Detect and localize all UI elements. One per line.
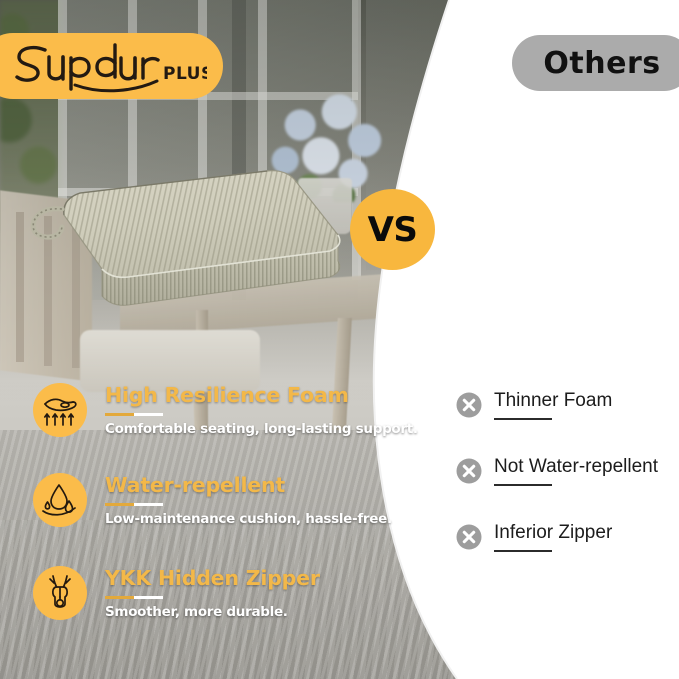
pro-underline (105, 413, 163, 416)
supdur-plus-logo: PLUS (11, 39, 207, 93)
pro-subtitle: Comfortable seating, long-lasting suppor… (105, 422, 418, 437)
vs-label: VS (368, 210, 418, 250)
product-photo-supdur-cushion (22, 165, 352, 320)
con-underline (494, 418, 552, 420)
circle-x-icon (456, 458, 482, 484)
pro-row-water-repellent: Water-repellent Low-maintenance cushion,… (33, 473, 392, 527)
pro-title: High Resilience Foam (105, 385, 418, 406)
con-title: Inferior Zipper (494, 523, 612, 542)
con-title: Thinner Foam (494, 391, 612, 410)
con-row-thinner-foam: Thinner Foam (456, 391, 612, 420)
pro-title: YKK Hidden Zipper (105, 568, 320, 589)
pro-text-block: YKK Hidden Zipper Smoother, more durable… (105, 566, 320, 619)
pro-subtitle: Smoother, more durable. (105, 605, 320, 620)
pro-title: Water-repellent (105, 475, 392, 496)
pro-text-block: High Resilience Foam Comfortable seating… (105, 383, 418, 436)
con-title: Not Water-repellent (494, 457, 658, 476)
con-text-block: Thinner Foam (494, 391, 612, 420)
con-row-not-water-repellent: Not Water-repellent (456, 457, 658, 486)
logo-plus-text: PLUS (163, 64, 207, 84)
circle-x-icon (456, 524, 482, 550)
pro-subtitle: Low-maintenance cushion, hassle-free. (105, 512, 392, 527)
comparison-infographic: PLUS Others VS High Resilie (0, 0, 679, 679)
pro-row-ykk-hidden-zipper: YKK Hidden Zipper Smoother, more durable… (33, 566, 320, 620)
pro-underline (105, 596, 163, 599)
zipper-icon (33, 566, 87, 620)
pro-underline (105, 503, 163, 506)
others-label: Others (543, 46, 660, 81)
hand-pressing-foam-icon (33, 383, 87, 437)
pro-text-block: Water-repellent Low-maintenance cushion,… (105, 473, 392, 526)
brand-logo-badge: PLUS (0, 33, 223, 99)
con-row-inferior-zipper: Inferior Zipper (456, 523, 612, 552)
con-underline (494, 550, 552, 552)
water-droplet-repel-icon (33, 473, 87, 527)
con-text-block: Not Water-repellent (494, 457, 658, 486)
others-badge: Others (512, 35, 679, 91)
pro-row-high-resilience-foam: High Resilience Foam Comfortable seating… (33, 383, 418, 437)
con-underline (494, 484, 552, 486)
vs-badge: VS (350, 189, 435, 270)
white-curved-divider-panel (339, 0, 679, 679)
con-text-block: Inferior Zipper (494, 523, 612, 552)
circle-x-icon (456, 392, 482, 418)
